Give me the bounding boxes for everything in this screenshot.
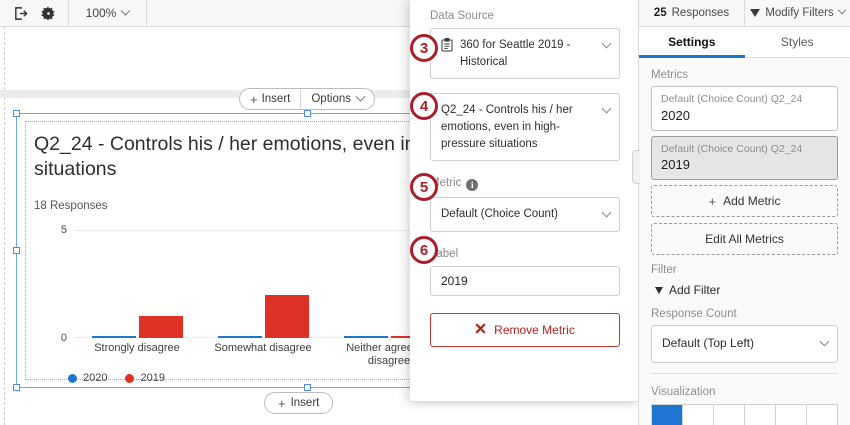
viz-type-table[interactable]: [776, 404, 807, 425]
chevron-down-icon: [356, 91, 366, 101]
visualization-type-picker: [651, 404, 838, 425]
insert-below-label: Insert: [291, 397, 320, 409]
resize-handle-bottom-left[interactable]: [13, 384, 20, 391]
chart-x-label: Somewhat disagree: [200, 342, 326, 369]
plus-icon: +: [709, 195, 717, 208]
plus-icon: +: [278, 397, 286, 410]
chart-bar-2019[interactable]: [265, 295, 309, 338]
response-count-section-label: Response Count: [651, 308, 838, 320]
metric-card-2019[interactable]: Default (Choice Count) Q2_24 2019: [651, 136, 838, 181]
legend-item-2020[interactable]: 2020: [68, 372, 107, 384]
toolbar-icon-group: [0, 0, 69, 26]
remove-metric-button[interactable]: Remove Metric: [430, 313, 620, 347]
tab-styles-label: Styles: [781, 35, 814, 49]
chart-x-label: Strongly disagree: [74, 342, 200, 369]
metric-label: Metrici: [430, 177, 620, 191]
viz-type-gauge[interactable]: [745, 404, 776, 425]
edit-all-metrics-button[interactable]: Edit All Metrics: [651, 223, 838, 255]
metric-card-2020[interactable]: Default (Choice Count) Q2_24 2020: [651, 86, 838, 131]
insert-button[interactable]: + Insert: [240, 89, 300, 109]
annotation-marker-5: 5: [410, 173, 438, 201]
annotation-number: 4: [420, 98, 428, 115]
add-filter-button[interactable]: Add Filter: [651, 281, 838, 299]
edit-all-metrics-label: Edit All Metrics: [705, 232, 784, 246]
filter-icon: [655, 287, 663, 294]
chart-legend: 20202019: [68, 372, 165, 384]
metrics-section-label: Metrics: [651, 69, 838, 81]
chart-bar-2019[interactable]: [139, 316, 183, 338]
legend-label: 2019: [140, 372, 164, 384]
chevron-down-icon: [602, 104, 612, 114]
insert-below-button[interactable]: + Insert: [264, 392, 333, 414]
label-field-label: Label: [430, 248, 620, 260]
response-count-badge: 25: [654, 7, 667, 19]
annotation-marker-3: 3: [410, 34, 438, 62]
metric-card-value: 2020: [661, 108, 828, 123]
viz-type-bar[interactable]: [651, 404, 683, 425]
response-count-value: Default (Top Left): [662, 336, 754, 350]
annotation-number: 6: [420, 242, 428, 259]
zoom-level-value: 100%: [86, 6, 117, 20]
metric-select[interactable]: Default (Choice Count): [430, 197, 620, 232]
y-tick-5: 5: [61, 224, 67, 236]
filter-section-label: Filter: [651, 264, 838, 276]
legend-label: 2020: [83, 372, 107, 384]
visualization-section-label: Visualization: [651, 386, 838, 398]
chevron-down-icon: [837, 6, 845, 14]
legend-color-swatch: [125, 374, 134, 383]
sidebar-body: Metrics Default (Choice Count) Q2_24 202…: [639, 58, 850, 425]
add-metric-button[interactable]: + Add Metric: [651, 185, 838, 217]
sidebar-header: 25 Responses Modify Filters: [639, 0, 850, 27]
options-button[interactable]: Options: [301, 89, 374, 109]
metric-value: Default (Choice Count): [441, 208, 558, 220]
clipboard-icon: [441, 38, 453, 58]
insert-button-label: Insert: [262, 93, 291, 105]
annotation-marker-4: 4: [410, 92, 438, 120]
resize-handle-top-left[interactable]: [13, 110, 20, 117]
response-count-word: Responses: [672, 7, 730, 19]
annotation-number: 3: [420, 40, 428, 57]
annotation-number: 5: [420, 179, 428, 196]
exit-icon[interactable]: [12, 5, 28, 21]
chart-bar-2020[interactable]: [92, 336, 136, 338]
response-count-select[interactable]: Default (Top Left): [651, 325, 838, 362]
data-source-value: 360 for Seattle 2019 - Historical: [460, 37, 593, 70]
chart-category-group: [200, 230, 326, 338]
chart-category-group: [74, 230, 200, 338]
metric-editor-popup: Data Source 360 for Seattle 2019 - Histo…: [410, 0, 638, 402]
chevron-down-icon: [121, 5, 131, 15]
modify-filters-button[interactable]: Modify Filters: [745, 0, 850, 26]
data-source-select[interactable]: 360 for Seattle 2019 - Historical: [430, 28, 620, 79]
viz-type-pie[interactable]: [714, 404, 745, 425]
response-count-summary[interactable]: 25 Responses: [639, 0, 745, 26]
zoom-level-dropdown[interactable]: 100%: [69, 0, 147, 26]
resize-handle-top-center[interactable]: [304, 110, 311, 117]
sidebar-collapse-handle[interactable]: [632, 150, 640, 184]
y-tick-0: 0: [61, 332, 67, 344]
plus-icon: +: [250, 93, 258, 106]
x-icon: [475, 323, 486, 337]
resize-handle-bottom-center[interactable]: [304, 384, 311, 391]
viz-type-line[interactable]: [683, 404, 714, 425]
chevron-down-icon: [602, 208, 612, 218]
legend-color-swatch: [68, 374, 77, 383]
question-value: Q2_24 - Controls his / her emotions, eve…: [441, 104, 573, 149]
metric-card-value: 2019: [661, 157, 828, 172]
info-icon[interactable]: i: [466, 179, 478, 191]
options-button-label: Options: [311, 93, 351, 105]
page-edge-guide: [4, 27, 5, 425]
filter-icon: [750, 9, 760, 17]
label-input[interactable]: 2019: [430, 266, 620, 296]
widget-response-count: 18 Responses: [34, 200, 108, 212]
insert-options-toolbar: + Insert Options: [239, 88, 375, 110]
chevron-down-icon: [820, 337, 830, 347]
tab-styles[interactable]: Styles: [745, 27, 850, 57]
add-filter-label: Add Filter: [669, 283, 720, 297]
modify-filters-label: Modify Filters: [765, 7, 833, 19]
resize-handle-middle-left[interactable]: [13, 247, 20, 254]
question-select[interactable]: Q2_24 - Controls his / her emotions, eve…: [430, 93, 620, 161]
chart-bar-2020[interactable]: [344, 336, 388, 338]
sidebar-divider: [651, 373, 838, 374]
tab-settings-label: Settings: [668, 35, 715, 49]
data-source-label: Data Source: [430, 10, 620, 22]
sidebar-tabs: Settings Styles: [639, 27, 850, 58]
tab-settings[interactable]: Settings: [639, 27, 745, 57]
viz-type-more[interactable]: [807, 404, 838, 425]
chart-bar-2020[interactable]: [218, 336, 262, 338]
metric-card-subtitle: Default (Choice Count) Q2_24: [661, 93, 828, 107]
label-input-value: 2019: [441, 274, 468, 288]
metric-card-subtitle: Default (Choice Count) Q2_24: [661, 143, 828, 157]
right-sidebar: 25 Responses Modify Filters Settings Sty…: [638, 0, 850, 425]
gear-icon[interactable]: [40, 5, 56, 21]
legend-item-2019[interactable]: 2019: [125, 372, 164, 384]
remove-metric-label: Remove Metric: [494, 323, 575, 337]
chevron-down-icon: [602, 39, 612, 49]
annotation-marker-6: 6: [410, 236, 438, 264]
add-metric-label: Add Metric: [723, 194, 780, 208]
